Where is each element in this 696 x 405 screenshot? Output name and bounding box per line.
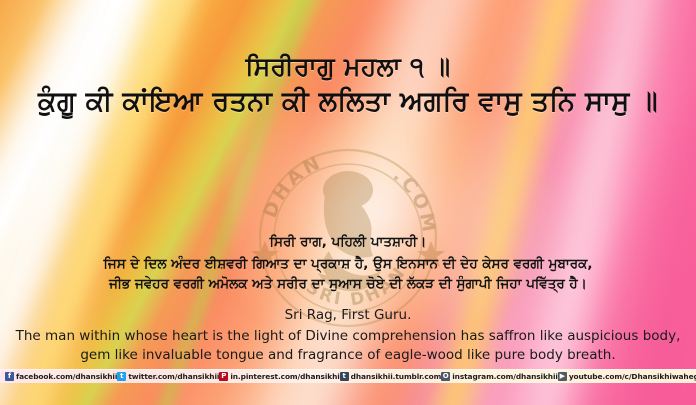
- social-label-pinterest: in.pinterest.com/dhansikhi: [230, 372, 339, 381]
- social-link-facebook[interactable]: f facebook.com/dhansikhii: [5, 372, 117, 381]
- punjabi-line-1: ਜਿਸ ਦੇ ਦਿਲ ਅੰਦਰ ਈਸ਼ਵਰੀ ਗਿਆਤ ਦਾ ਪ੍ਰਕਾਸ਼ ਹ…: [0, 254, 696, 275]
- svg-text:.COM: .COM: [389, 164, 441, 236]
- social-label-facebook: facebook.com/dhansikhii: [16, 372, 117, 381]
- social-link-youtube[interactable]: ▶ youtube.com/c/Dhansikhiwaheguru: [558, 372, 696, 381]
- punjabi-translation-block: ਸਿਰੀ ਰਾਗ, ਪਹਿਲੀ ਪਾਤਸ਼ਾਹੀ। ਜਿਸ ਦੇ ਦਿਲ ਅੰਦ…: [0, 232, 696, 295]
- english-heading: Sri Rag, First Guru.: [0, 306, 696, 326]
- gurbani-line-2: ਕੁੰਗੂ ਕੀ ਕਾਂਇਆ ਰਤਨਾ ਕੀ ਲਲਿਤਾ ਅਗਰਿ ਵਾਸੁ ਤ…: [0, 86, 696, 118]
- social-link-instagram[interactable]: O instagram.com/dhansikhii: [441, 372, 558, 381]
- svg-text:DHAN: DHAN: [259, 151, 326, 221]
- youtube-icon: ▶: [558, 372, 567, 381]
- twitter-icon: t: [117, 372, 126, 381]
- facebook-icon: f: [5, 372, 14, 381]
- pinterest-icon: P: [219, 372, 228, 381]
- english-translation-block: Sri Rag, First Guru. The man within whos…: [0, 306, 696, 366]
- social-label-youtube: youtube.com/c/Dhansikhiwaheguru: [569, 372, 696, 381]
- social-link-twitter[interactable]: t twitter.com/dhansikhii: [117, 372, 219, 381]
- social-link-tumblr[interactable]: t dhansikhii.tumblr.com: [340, 372, 442, 381]
- social-link-pinterest[interactable]: P in.pinterest.com/dhansikhi: [219, 372, 339, 381]
- social-label-instagram: instagram.com/dhansikhii: [452, 372, 558, 381]
- tumblr-icon: t: [340, 372, 349, 381]
- gurbani-line-1: ਸਿਰੀਰਾਗੁ ਮਹਲਾ ੧ ॥: [0, 52, 696, 82]
- social-label-tumblr: dhansikhii.tumblr.com: [351, 372, 442, 381]
- gurbani-block: ਸਿਰੀਰਾਗੁ ਮਹਲਾ ੧ ॥ ਕੁੰਗੂ ਕੀ ਕਾਂਇਆ ਰਤਨਾ ਕੀ…: [0, 52, 696, 117]
- punjabi-heading: ਸਿਰੀ ਰਾਗ, ਪਹਿਲੀ ਪਾਤਸ਼ਾਹੀ।: [0, 232, 696, 253]
- instagram-icon: O: [441, 372, 450, 381]
- english-line-2: gem like invaluable tongue and fragrance…: [0, 346, 696, 366]
- english-line-1: The man within whose heart is the light …: [0, 327, 696, 347]
- social-label-twitter: twitter.com/dhansikhii: [128, 372, 219, 381]
- social-links-bar: f facebook.com/dhansikhii t twitter.com/…: [0, 369, 696, 383]
- shabad-card: DHAN .COM SRI DHAN ਸਿਰੀਰਾਗੁ ਮਹਲਾ ੧ ॥ ਕੁੰ…: [0, 0, 696, 405]
- punjabi-line-2: ਜੀਭ ਜਵੇਹਰ ਵਰਗੀ ਅਮੋਲਕ ਅਤੇ ਸਰੀਰ ਦਾ ਸੁਆਸ ਚੋ…: [0, 274, 696, 295]
